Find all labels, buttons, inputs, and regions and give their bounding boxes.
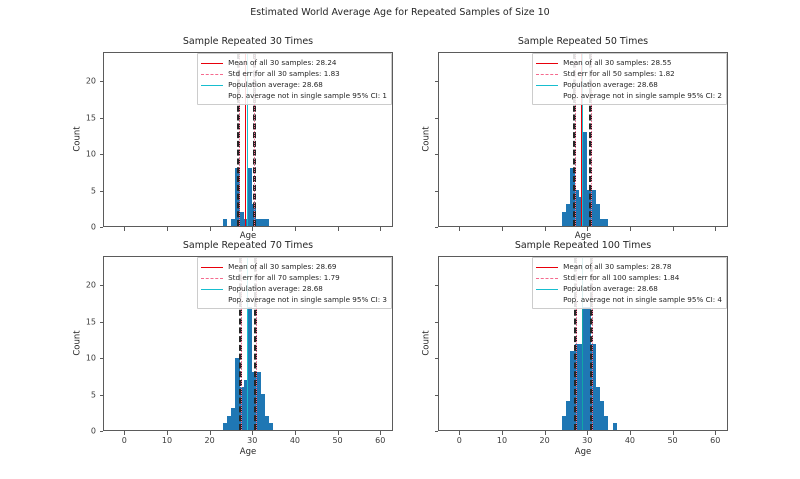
legend-label: Population average: 28.68 — [563, 81, 658, 88]
legend-entry: Std err for all 30 samples: 1.83 — [201, 68, 387, 79]
y-tick-label: 5 — [91, 186, 96, 195]
x-tick-label: 50 — [332, 436, 342, 445]
x-tick — [252, 431, 253, 435]
y-tick-label: 10 — [86, 150, 96, 159]
x-tick — [673, 227, 674, 231]
y-axis-label: Count — [421, 255, 431, 430]
legend-entry: Mean of all 30 samples: 28.78 — [536, 261, 722, 272]
legend-key-pop-avg-line-icon — [536, 80, 558, 89]
y-axis-label: Count — [421, 51, 431, 226]
legend-entry: Population average: 28.68 — [201, 283, 387, 294]
figure: Estimated World Average Age for Repeated… — [0, 0, 800, 479]
legend-label: Mean of all 30 samples: 28.69 — [228, 263, 336, 270]
legend-entry: Pop. average not in single sample 95% CI… — [536, 90, 722, 101]
legend-entry: Std err for all 100 samples: 1.84 — [536, 272, 722, 283]
y-tick-label: 15 — [86, 317, 96, 326]
legend: Mean of all 30 samples: 28.24Std err for… — [197, 53, 392, 105]
x-tick — [715, 227, 716, 231]
legend-label: Std err for all 100 samples: 1.84 — [563, 274, 679, 281]
legend-label: Pop. average not in single sample 95% CI… — [563, 296, 722, 303]
x-tick-label: 20 — [205, 436, 215, 445]
legend-entry: Mean of all 30 samples: 28.55 — [536, 57, 722, 68]
y-tick-label: 15 — [86, 113, 96, 122]
subplot-title: Sample Repeated 100 Times — [438, 240, 728, 251]
legend-entry: Population average: 28.68 — [536, 79, 722, 90]
x-tick — [338, 227, 339, 231]
x-tick-label: 60 — [375, 436, 385, 445]
y-tick — [100, 431, 104, 432]
x-tick — [502, 431, 503, 435]
x-tick-label: 40 — [625, 436, 635, 445]
x-tick-label: 20 — [540, 436, 550, 445]
legend-entry: Population average: 28.68 — [201, 79, 387, 90]
x-tick — [459, 431, 460, 435]
y-tick — [435, 431, 439, 432]
legend-label: Population average: 28.68 — [228, 81, 323, 88]
x-tick — [380, 227, 381, 231]
x-tick-label: 30 — [247, 436, 257, 445]
legend-key-none-icon — [201, 91, 223, 100]
y-axis-label: Count — [72, 255, 82, 430]
x-tick — [587, 431, 588, 435]
subplot-1: Sample Repeated 30 Times05101520AgeCount… — [103, 52, 393, 227]
legend: Mean of all 30 samples: 28.69Std err for… — [197, 257, 392, 309]
legend-key-none-icon — [536, 91, 558, 100]
legend-key-stderr-line-icon — [536, 273, 558, 282]
x-tick-label: 0 — [122, 436, 127, 445]
x-tick — [673, 431, 674, 435]
x-tick — [210, 431, 211, 435]
x-tick — [167, 431, 168, 435]
legend-key-none-icon — [536, 295, 558, 304]
legend-key-mean-line-icon — [201, 262, 223, 271]
legend-entry: Population average: 28.68 — [536, 283, 722, 294]
legend-key-pop-avg-line-icon — [536, 284, 558, 293]
legend-key-pop-avg-line-icon — [201, 80, 223, 89]
legend-key-pop-avg-line-icon — [201, 284, 223, 293]
legend-entry: Std err for all 50 samples: 1.82 — [536, 68, 722, 79]
legend-entry: Pop. average not in single sample 95% CI… — [201, 90, 387, 101]
y-tick-label: 20 — [86, 281, 96, 290]
y-tick-label: 10 — [86, 354, 96, 363]
x-tick — [252, 227, 253, 231]
legend-label: Std err for all 30 samples: 1.83 — [228, 70, 340, 77]
x-tick-label: 0 — [457, 436, 462, 445]
x-axis-label: Age — [103, 447, 393, 457]
legend-label: Mean of all 30 samples: 28.78 — [563, 263, 671, 270]
legend-entry: Std err for all 70 samples: 1.79 — [201, 272, 387, 283]
x-tick-label: 10 — [162, 436, 172, 445]
legend-key-stderr-line-icon — [536, 69, 558, 78]
legend-label: Population average: 28.68 — [228, 285, 323, 292]
x-tick-label: 40 — [290, 436, 300, 445]
x-tick-label: 30 — [582, 436, 592, 445]
x-tick — [124, 227, 125, 231]
y-tick-label: 20 — [86, 77, 96, 86]
y-tick-label: 0 — [91, 427, 96, 436]
x-tick — [124, 431, 125, 435]
legend: Mean of all 30 samples: 28.55Std err for… — [532, 53, 727, 105]
legend-label: Pop. average not in single sample 95% CI… — [563, 92, 722, 99]
x-tick — [295, 227, 296, 231]
x-tick — [459, 227, 460, 231]
subplot-3: Sample Repeated 70 Times0510152001020304… — [103, 256, 393, 431]
legend-key-stderr-line-icon — [201, 69, 223, 78]
legend-entry: Pop. average not in single sample 95% CI… — [536, 294, 722, 305]
legend-label: Mean of all 30 samples: 28.24 — [228, 59, 336, 66]
x-tick-label: 10 — [497, 436, 507, 445]
subplot-title: Sample Repeated 50 Times — [438, 36, 728, 47]
y-tick-label: 5 — [91, 390, 96, 399]
legend-key-mean-line-icon — [201, 58, 223, 67]
x-tick — [295, 431, 296, 435]
subplot-4: Sample Repeated 100 Times0102030405060Ag… — [438, 256, 728, 431]
figure-suptitle: Estimated World Average Age for Repeated… — [0, 7, 800, 18]
legend-entry: Mean of all 30 samples: 28.24 — [201, 57, 387, 68]
x-axis-label: Age — [438, 447, 728, 457]
x-tick — [715, 431, 716, 435]
x-tick — [380, 431, 381, 435]
legend-key-mean-line-icon — [536, 58, 558, 67]
legend: Mean of all 30 samples: 28.78Std err for… — [532, 257, 727, 309]
legend-entry: Mean of all 30 samples: 28.69 — [201, 261, 387, 272]
subplot-title: Sample Repeated 70 Times — [103, 240, 393, 251]
x-tick — [630, 227, 631, 231]
x-tick-label: 60 — [710, 436, 720, 445]
x-tick — [545, 227, 546, 231]
legend-label: Population average: 28.68 — [563, 285, 658, 292]
x-tick — [502, 227, 503, 231]
x-tick — [587, 227, 588, 231]
subplot-title: Sample Repeated 30 Times — [103, 36, 393, 47]
y-tick — [435, 227, 439, 228]
y-axis-label: Count — [72, 51, 82, 226]
x-tick — [167, 227, 168, 231]
subplot-2: Sample Repeated 50 TimesAgeCountMean of … — [438, 52, 728, 227]
legend-entry: Pop. average not in single sample 95% CI… — [201, 294, 387, 305]
legend-label: Pop. average not in single sample 95% CI… — [228, 296, 387, 303]
legend-label: Std err for all 50 samples: 1.82 — [563, 70, 675, 77]
x-tick — [545, 431, 546, 435]
y-tick — [100, 227, 104, 228]
x-tick — [630, 431, 631, 435]
x-tick — [210, 227, 211, 231]
legend-label: Pop. average not in single sample 95% CI… — [228, 92, 387, 99]
legend-key-mean-line-icon — [536, 262, 558, 271]
legend-label: Mean of all 30 samples: 28.55 — [563, 59, 671, 66]
y-tick-label: 0 — [91, 223, 96, 232]
legend-key-stderr-line-icon — [201, 273, 223, 282]
x-tick — [338, 431, 339, 435]
legend-key-none-icon — [201, 295, 223, 304]
legend-label: Std err for all 70 samples: 1.79 — [228, 274, 340, 281]
x-tick-label: 50 — [667, 436, 677, 445]
